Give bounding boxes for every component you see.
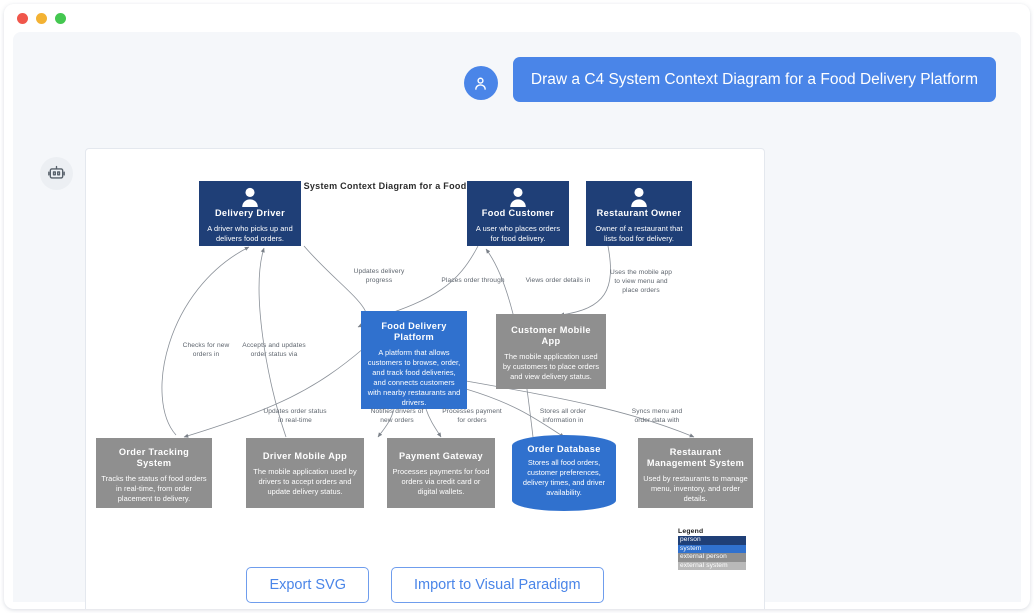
diagram-node-restaurant-owner[interactable]: Restaurant Owner Owner of a restaurant t… bbox=[586, 181, 692, 246]
node-description: A user who places orders for food delive… bbox=[472, 224, 564, 244]
card-action-bar: Export SVG Import to Visual Paradigm bbox=[86, 567, 764, 603]
import-to-visual-paradigm-button[interactable]: Import to Visual Paradigm bbox=[391, 567, 604, 603]
diagram-node-payment-gateway[interactable]: Payment Gateway Processes payments for f… bbox=[387, 438, 495, 508]
node-name: Payment Gateway bbox=[392, 451, 490, 462]
diagram-node-driver-mobile-app[interactable]: Driver Mobile App The mobile application… bbox=[246, 438, 364, 508]
person-icon bbox=[628, 187, 650, 207]
legend-item-external-person: external person bbox=[678, 553, 746, 562]
node-description: A driver who picks up and delivers food … bbox=[204, 224, 296, 244]
edge-label-views-order-details-in: Views order details in bbox=[514, 277, 602, 286]
edge-label-notifies-drivers-of-new-orders: Notifies drivers of new orders bbox=[358, 408, 436, 426]
edge-label-accepts-and-updates-order-status: Accepts and updates order status via bbox=[226, 342, 322, 360]
node-name: Order Database bbox=[518, 444, 610, 454]
diagram-node-restaurant-management-system[interactable]: Restaurant Management System Used by res… bbox=[638, 438, 753, 508]
user-message-row: Draw a C4 System Context Diagram for a F… bbox=[464, 57, 996, 102]
node-description: Tracks the status of food orders in real… bbox=[101, 474, 207, 504]
diagram-node-food-customer[interactable]: Food Customer A user who places orders f… bbox=[467, 181, 569, 246]
node-description: Owner of a restaurant that lists food fo… bbox=[591, 224, 687, 244]
legend-item-system: system bbox=[678, 545, 746, 554]
node-name: Restaurant Management System bbox=[643, 447, 748, 469]
chat-page: Draw a C4 System Context Diagram for a F… bbox=[13, 32, 1021, 602]
diagram-answer-card: System Context Diagram for a Food Delive… bbox=[85, 148, 765, 609]
person-icon bbox=[507, 187, 529, 207]
node-name: Restaurant Owner bbox=[591, 208, 687, 219]
export-svg-button[interactable]: Export SVG bbox=[246, 567, 369, 603]
diagram-legend: Legend person system external person ext… bbox=[678, 528, 746, 570]
window-titlebar bbox=[4, 4, 1030, 32]
edge-label-updates-delivery-progress: Updates delivery progress bbox=[339, 268, 419, 286]
edge-label-places-order-through: Places order through bbox=[428, 277, 518, 286]
node-name: Delivery Driver bbox=[204, 208, 296, 219]
edge-label-stores-all-order-information-in: Stores all order information in bbox=[526, 408, 600, 426]
legend-item-person: person bbox=[678, 536, 746, 545]
maximize-window-button[interactable] bbox=[55, 13, 66, 24]
node-description: Processes payments for food orders via c… bbox=[392, 467, 490, 497]
node-name: Customer Mobile App bbox=[501, 325, 601, 347]
legend-title: Legend bbox=[678, 528, 746, 535]
diagram-node-customer-mobile-app[interactable]: Customer Mobile App The mobile applicati… bbox=[496, 314, 606, 389]
edge-label-syncs-menu-and-order-data-with: Syncs menu and order data with bbox=[618, 408, 696, 426]
node-description: The mobile application used by drivers t… bbox=[251, 467, 359, 497]
node-description: The mobile application used by customers… bbox=[501, 352, 601, 382]
diagram-node-order-tracking-system[interactable]: Order Tracking System Tracks the status … bbox=[96, 438, 212, 508]
node-description: Stores all food orders, customer prefere… bbox=[518, 458, 610, 497]
diagram-node-order-database[interactable]: Order Database Stores all food orders, c… bbox=[512, 435, 616, 511]
node-name: Order Tracking System bbox=[101, 447, 207, 469]
node-name: Food Delivery Platform bbox=[366, 321, 462, 343]
app-window: Draw a C4 System Context Diagram for a F… bbox=[4, 4, 1030, 609]
person-icon bbox=[239, 187, 261, 207]
diagram-node-food-delivery-platform[interactable]: Food Delivery Platform A platform that a… bbox=[361, 311, 467, 409]
edge-label-processes-payment-for-orders: Processes payment for orders bbox=[434, 408, 510, 426]
close-window-button[interactable] bbox=[17, 13, 28, 24]
node-description: Used by restaurants to manage menu, inve… bbox=[643, 474, 748, 504]
c4-system-context-diagram: System Context Diagram for a Food Delive… bbox=[86, 149, 766, 567]
edge-label-uses-mobile-app: Uses the mobile app to view menu and pla… bbox=[600, 269, 682, 296]
robot-icon bbox=[40, 157, 73, 190]
person-icon bbox=[464, 66, 498, 100]
node-name: Food Customer bbox=[472, 208, 564, 219]
user-message-bubble: Draw a C4 System Context Diagram for a F… bbox=[513, 57, 996, 102]
diagram-node-delivery-driver[interactable]: Delivery Driver A driver who picks up an… bbox=[199, 181, 301, 246]
node-name: Driver Mobile App bbox=[251, 451, 359, 462]
minimize-window-button[interactable] bbox=[36, 13, 47, 24]
node-description: A platform that allows customers to brow… bbox=[366, 348, 462, 407]
edge-label-updates-order-status-real-time: Updates order status in real-time bbox=[249, 408, 341, 426]
